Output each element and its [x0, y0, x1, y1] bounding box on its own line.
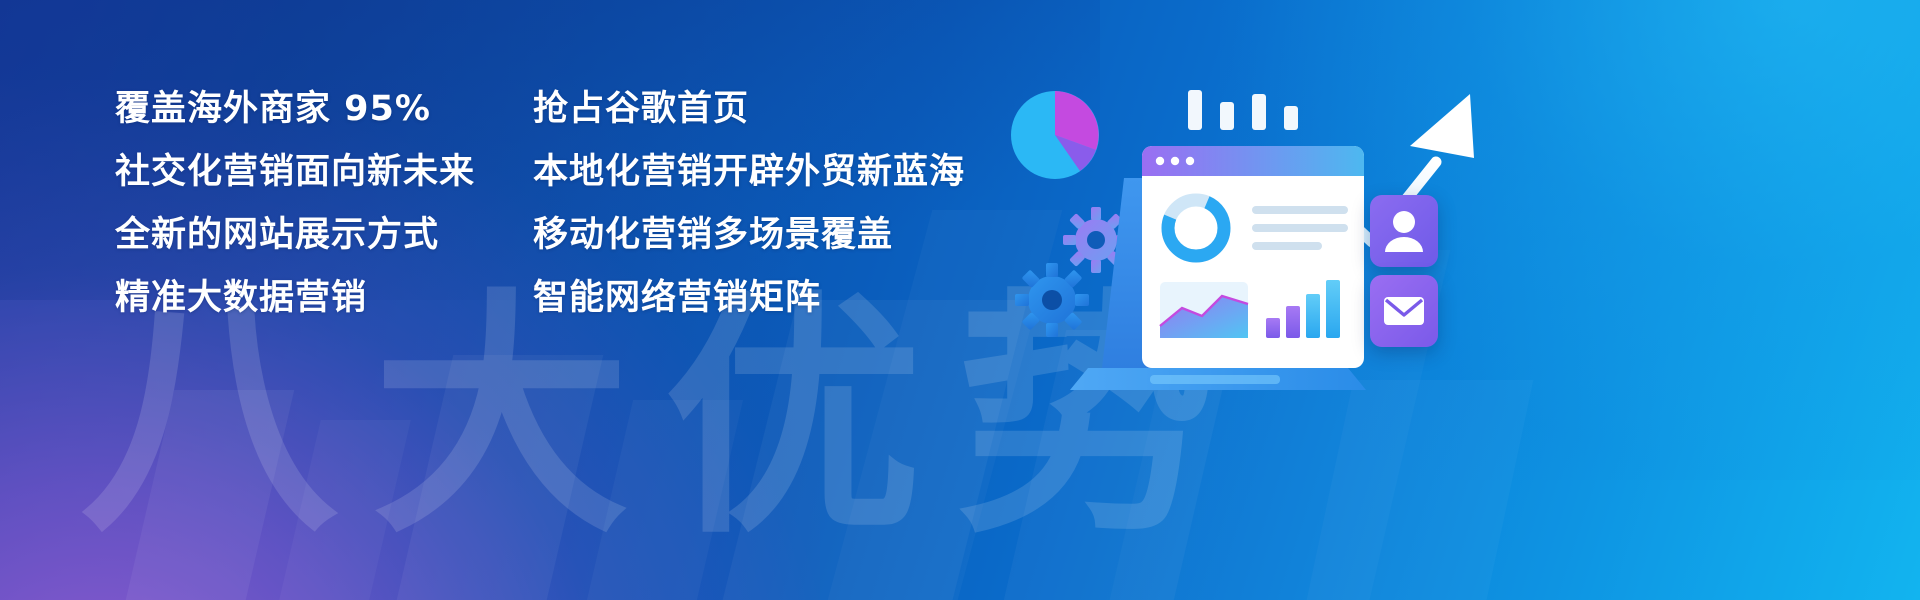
area-chart-icon [1160, 282, 1248, 338]
promo-banner: 八大优势 覆盖海外商家 95% 社交化营销面向新未来 全新的网站展示方式 精准大… [0, 0, 1920, 600]
mail-card-icon [1370, 275, 1438, 347]
benefit-item: 移动化营销多场景覆盖 [533, 204, 965, 267]
benefit-item: 抢占谷歌首页 [533, 78, 965, 141]
benefit-item: 覆盖海外商家 95% [115, 78, 475, 141]
headline-copy: 覆盖海外商家 95% 社交化营销面向新未来 全新的网站展示方式 精准大数据营销 … [0, 0, 1060, 600]
benefit-item: 精准大数据营销 [115, 267, 475, 330]
envelope-icon [1370, 275, 1438, 347]
pie-chart-icon [1011, 91, 1099, 179]
benefit-column-right: 抢占谷歌首页 本地化营销开辟外贸新蓝海 移动化营销多场景覆盖 智能网络营销矩阵 [533, 78, 965, 330]
benefit-column-left: 覆盖海外商家 95% 社交化营销面向新未来 全新的网站展示方式 精准大数据营销 [115, 78, 475, 330]
illustration-svg [1000, 50, 1520, 450]
benefit-item: 本地化营销开辟外贸新蓝海 [533, 141, 965, 204]
benefit-item: 全新的网站展示方式 [115, 204, 475, 267]
user-card-icon [1370, 195, 1438, 267]
user-avatar-icon [1370, 195, 1438, 267]
marketing-illustration [1000, 50, 1520, 450]
benefit-item: 智能网络营销矩阵 [533, 267, 965, 330]
benefit-item: 社交化营销面向新未来 [115, 141, 475, 204]
gear-small-icon [1015, 263, 1089, 337]
dashboard-window-icon [1142, 146, 1364, 368]
bar-glyphs-icon [1188, 90, 1298, 130]
